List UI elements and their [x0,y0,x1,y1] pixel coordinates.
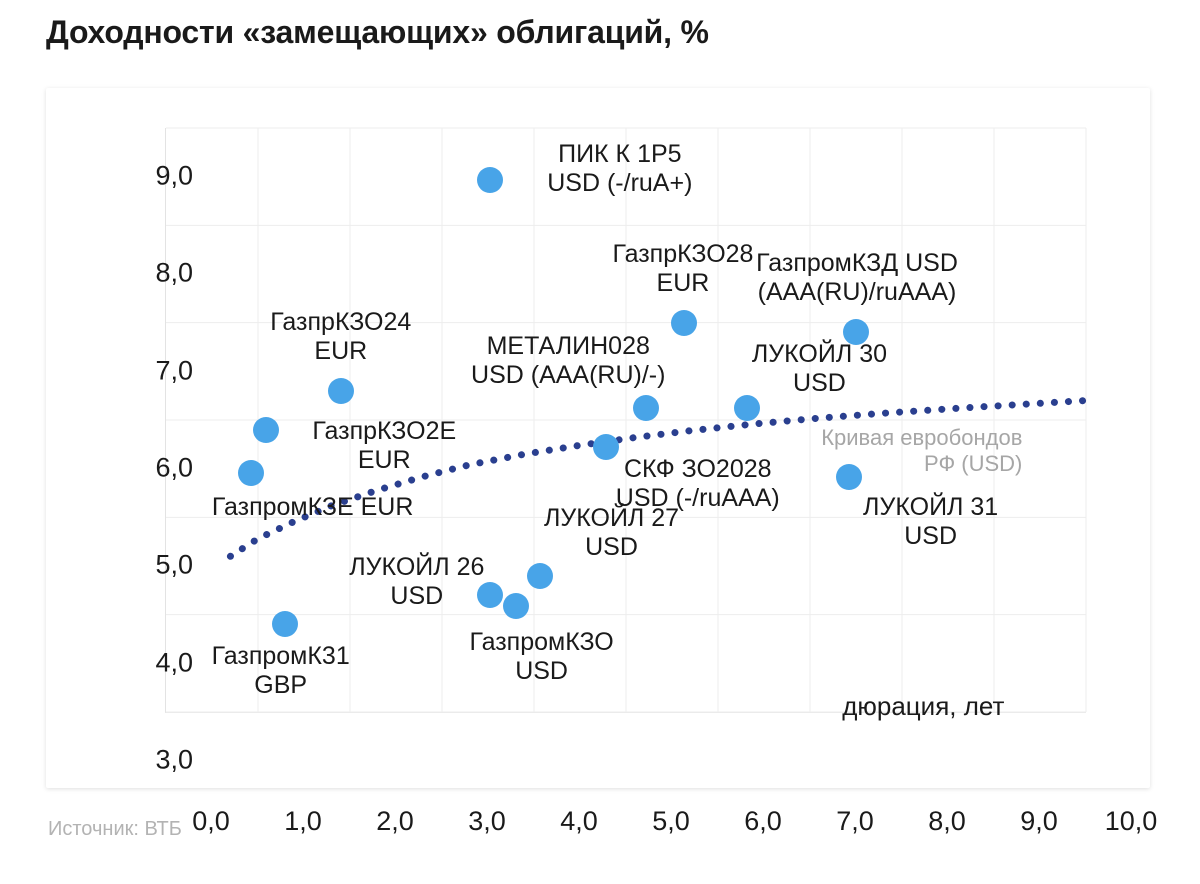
x-axis-title: дюрация, лет [842,691,1004,722]
x-axis-tick-label: 3,0 [468,806,506,837]
y-axis-tick-label: 3,0 [123,745,193,776]
data-point[interactable] [238,460,264,486]
data-point-label: ГазпромКЗЕ EUR [212,493,414,522]
y-axis-tick-label: 7,0 [123,355,193,386]
data-point-label: ЛУКОЙЛ 30 USD [752,340,887,398]
data-point[interactable] [734,395,760,421]
x-axis-ticks: 0,01,02,03,04,05,06,07,08,09,010,0 [211,806,1131,856]
y-axis-tick-label: 8,0 [123,258,193,289]
data-point[interactable] [328,378,354,404]
y-axis-tick-label: 9,0 [123,161,193,192]
x-axis-tick-label: 8,0 [928,806,966,837]
x-axis-tick-label: 1,0 [284,806,322,837]
y-axis-tick-label: 4,0 [123,647,193,678]
data-point[interactable] [503,593,529,619]
data-point-label: МЕТАЛИН028 USD (ААА(RU)/-) [471,332,665,390]
y-axis-ticks: 3,04,05,06,07,08,09,0 [81,176,201,760]
x-axis-tick-label: 0,0 [192,806,230,837]
data-point-label: ЛУКОЙЛ 26 USD [349,553,484,611]
chart-card: ПИК К 1Р5 USD (-/ruA+)ГазпрКЗО28 EURГазп… [46,88,1150,788]
x-axis-tick-label: 9,0 [1020,806,1058,837]
data-point-label: ЛУКОЙЛ 27 USD [544,504,679,562]
data-point-label: ГазпромК31 GBP [212,642,350,700]
data-point[interactable] [477,167,503,193]
plot-area: ПИК К 1Р5 USD (-/ruA+)ГазпрКЗО28 EURГазп… [165,128,1086,713]
data-point[interactable] [633,395,659,421]
data-point[interactable] [527,563,553,589]
data-point-label: ГазпрКЗО24 EUR [270,308,411,366]
data-point-label: ПИК К 1Р5 USD (-/ruA+) [547,140,692,198]
x-axis-tick-label: 6,0 [744,806,782,837]
data-point-label: ГазпрКЗО2Е EUR [312,417,456,475]
y-axis-tick-label: 6,0 [123,453,193,484]
data-point[interactable] [253,417,279,443]
page-title: Доходности «замещающих» облигаций, % [46,14,709,51]
yield-curve [166,128,1086,712]
x-axis-tick-label: 7,0 [836,806,874,837]
x-axis-tick-label: 4,0 [560,806,598,837]
data-point[interactable] [272,611,298,637]
source-note: Источник: ВТБ [48,818,182,841]
data-point[interactable] [671,310,697,336]
x-axis-tick-label: 2,0 [376,806,414,837]
data-point-label: ЛУКОЙЛ 31 USD [863,493,998,551]
data-point-label: ГазпромКЗО USD [469,628,613,686]
x-axis-tick-label: 10,0 [1105,806,1158,837]
data-point-label: ГазпромКЗД USD (ААА(RU)/ruAAA) [756,249,958,307]
data-point-label: ГазпрКЗО28 EUR [612,240,753,298]
curve-annotation-label: Кривая евробондов РФ (USD) [782,425,1022,478]
y-axis-tick-label: 5,0 [123,550,193,581]
x-axis-tick-label: 5,0 [652,806,690,837]
